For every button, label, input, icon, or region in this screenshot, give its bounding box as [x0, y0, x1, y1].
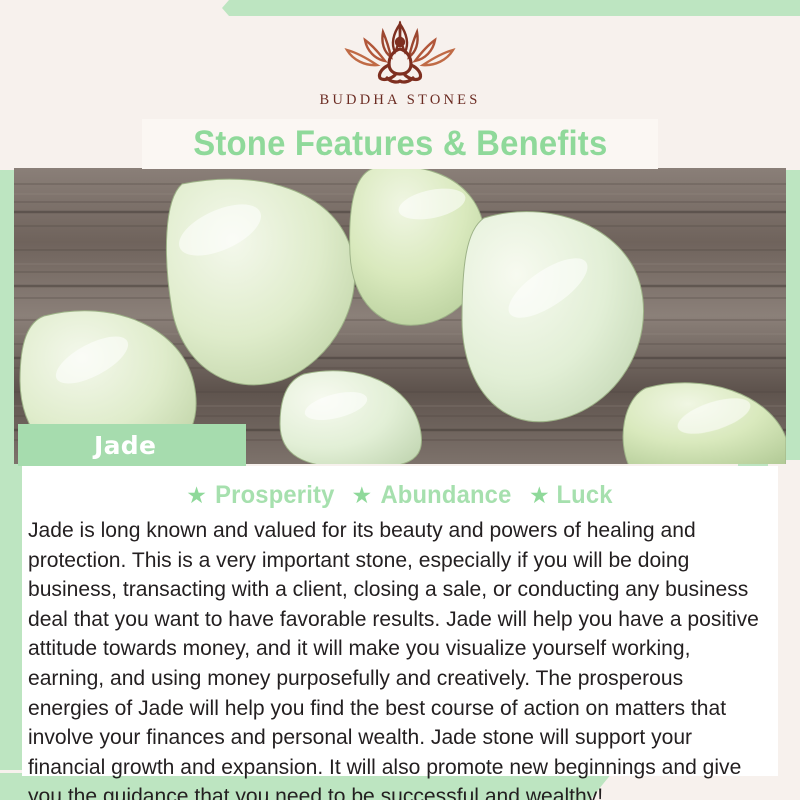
brand-name: BUDDHA STONES — [320, 92, 481, 109]
star-icon: ★ — [351, 484, 372, 507]
star-icon: ★ — [529, 484, 550, 507]
page-title: Stone Features & Benefits — [193, 124, 607, 164]
benefits-list: ★ Prosperity ★ Abundance ★ Luck — [26, 478, 774, 512]
stone-description: Jade is long known and valued for its be… — [28, 516, 769, 800]
benefit-item: ★ Luck — [529, 481, 614, 510]
stone-name-bar: Jade — [18, 424, 246, 466]
infographic-card: BUDDHA STONES Stone Features & Benefits — [0, 0, 800, 800]
benefit-label: Luck — [556, 481, 612, 510]
benefit-label: Abundance — [381, 481, 512, 510]
benefit-item: ★ Prosperity — [186, 481, 337, 510]
benefit-label: Prosperity — [215, 481, 334, 510]
decorative-border-left-lower — [0, 460, 22, 770]
benefit-item: ★ Abundance — [351, 481, 515, 510]
brand-header: BUDDHA STONES — [0, 0, 800, 122]
content-card: ★ Prosperity ★ Abundance ★ Luck Jade is … — [22, 466, 778, 776]
stone-photo — [14, 168, 786, 464]
lotus-meditation-icon — [325, 18, 475, 88]
star-icon: ★ — [186, 484, 207, 507]
title-banner: Stone Features & Benefits — [142, 119, 658, 169]
stone-name: Jade — [94, 431, 156, 460]
decorative-corner-top-right — [215, 0, 800, 16]
